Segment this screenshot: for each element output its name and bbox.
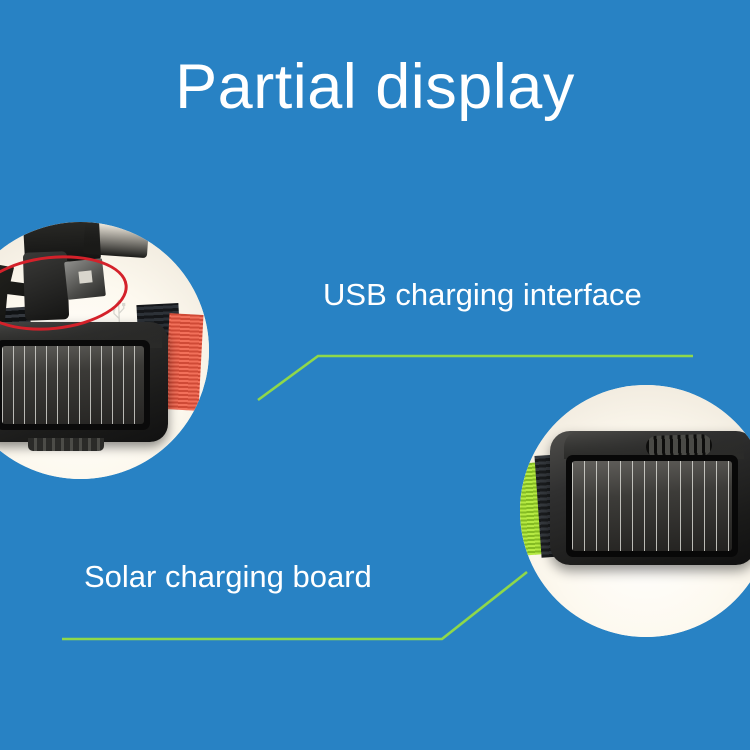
- page-title: Partial display: [0, 56, 750, 119]
- solar-panel: [2, 346, 144, 424]
- usb-charging-interface-photo: [0, 222, 209, 479]
- solar-panel: [572, 461, 732, 551]
- head-strap-orange: [165, 313, 204, 411]
- callout-label-usb: USB charging interface: [323, 279, 642, 310]
- lamp-top-bracket-second: [83, 222, 149, 258]
- callout-label-solar: Solar charging board: [84, 561, 372, 592]
- solar-charging-board-photo: [520, 385, 750, 637]
- photo-content: [520, 385, 750, 637]
- product-detail-slide: Partial display: [0, 0, 750, 750]
- photo-content: [0, 222, 209, 479]
- lamp-bottom-tab: [28, 438, 104, 451]
